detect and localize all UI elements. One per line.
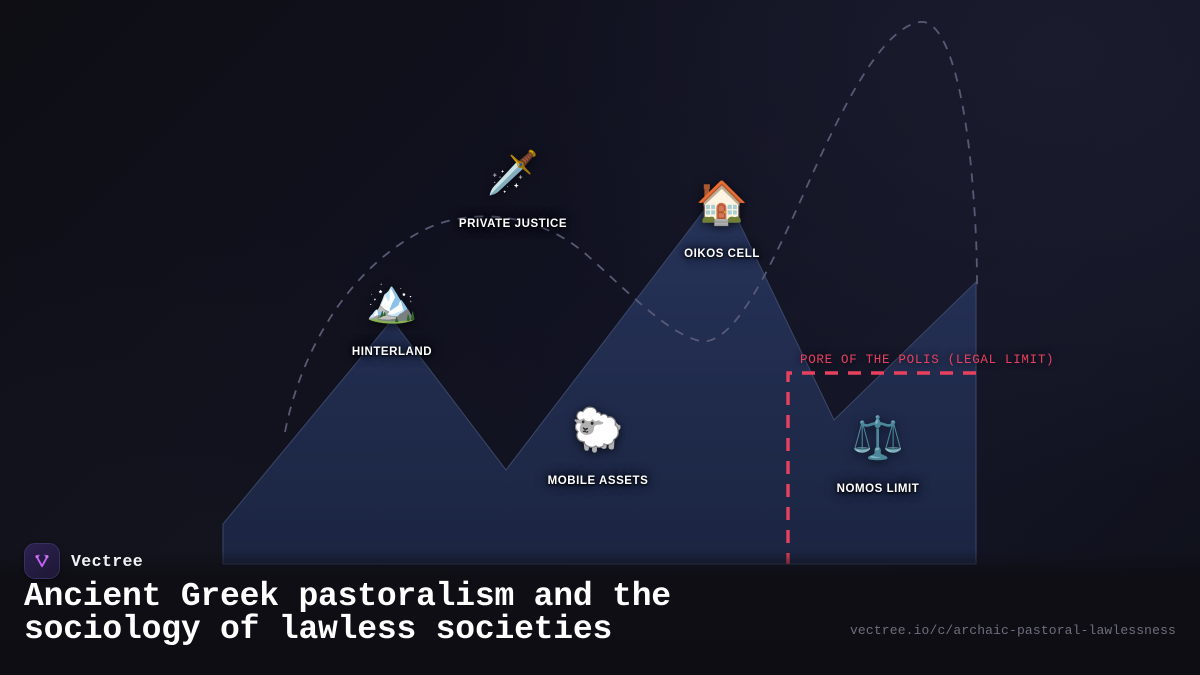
vectree-sprout-icon [24,543,60,579]
brand-name: Vectree [71,552,143,571]
sheep-emoji: 🐑 [488,407,708,453]
dagger-emoji: 🗡️ [403,150,623,196]
node-marker[interactable]: 🏔️HINTERLAND [282,278,502,360]
node-label: MOBILE ASSETS [548,475,649,487]
source-url: vectree.io/c/archaic-pastoral-lawlessnes… [850,623,1176,638]
balance-scale-emoji: ⚖️ [768,415,988,461]
node-marker[interactable]: ⚖️NOMOS LIMIT [768,415,988,497]
node-marker[interactable]: 🏠OIKOS CELL [612,180,832,262]
brand-lockup[interactable]: Vectree [24,543,143,579]
node-label: OIKOS CELL [684,248,760,260]
terrain-silhouette [223,187,976,564]
node-label: HINTERLAND [352,346,432,358]
legal-limit-label: PORE OF THE POLIS (LEGAL LIMIT) [800,353,1054,367]
node-label: PRIVATE JUSTICE [459,218,567,230]
house-emoji: 🏠 [612,180,832,226]
node-marker[interactable]: 🐑MOBILE ASSETS [488,407,708,489]
mountain-emoji: 🏔️ [282,278,502,324]
node-marker[interactable]: 🗡️PRIVATE JUSTICE [403,150,623,232]
infographic-canvas: PORE OF THE POLIS (LEGAL LIMIT) 🏔️HINTER… [0,0,1200,675]
page-title: Ancient Greek pastoralism and the sociol… [24,580,784,646]
node-label: NOMOS LIMIT [837,483,920,495]
